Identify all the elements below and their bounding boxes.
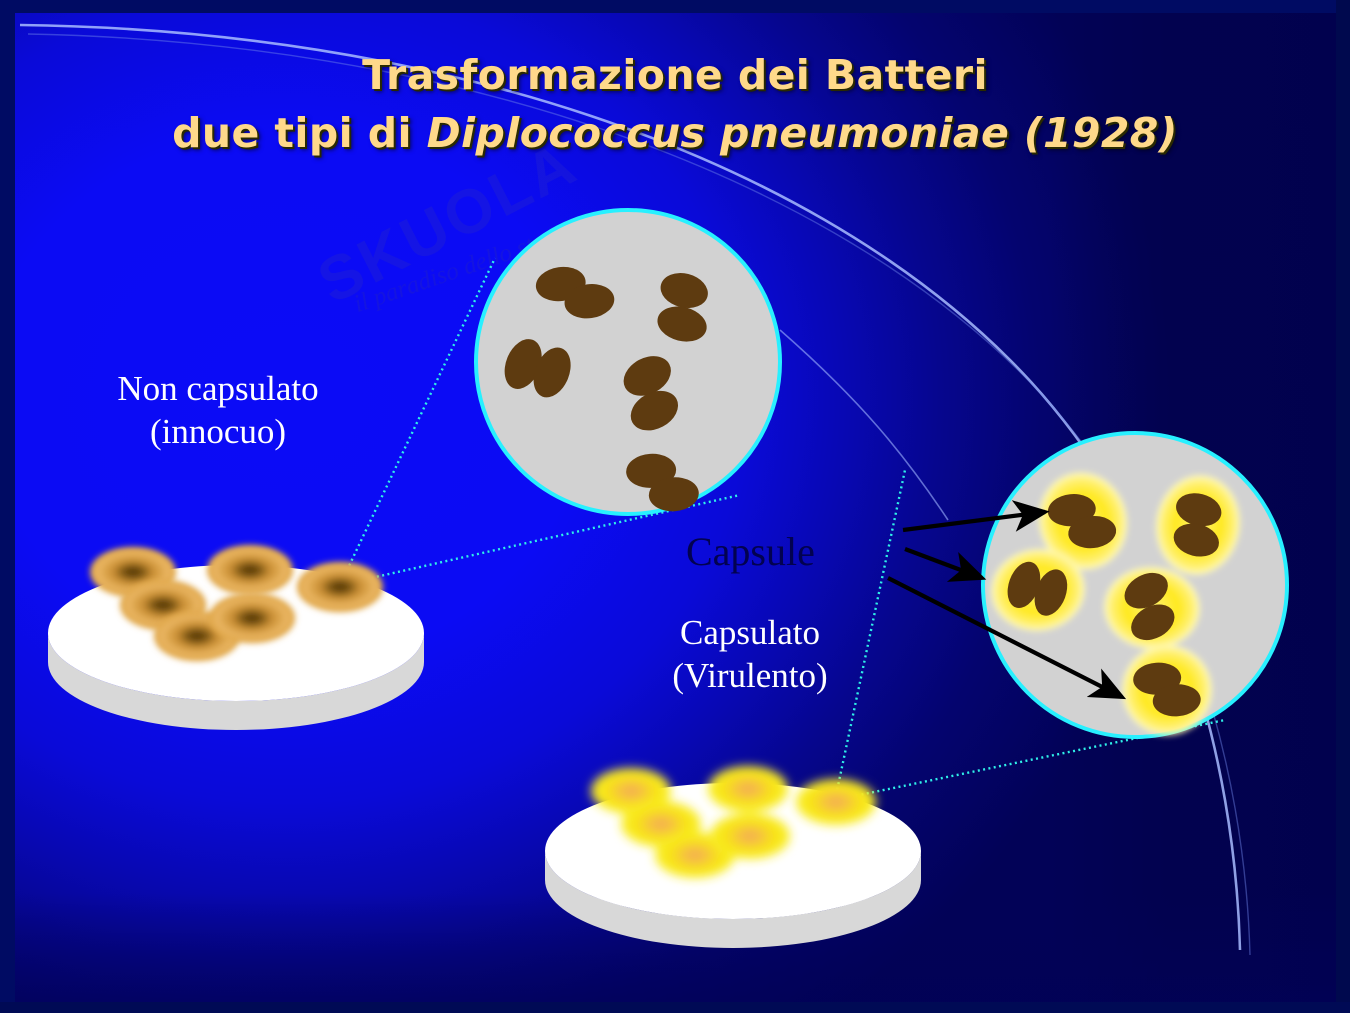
background-bottom-shade <box>0 893 1350 1013</box>
slide-border-bottom <box>0 1002 1350 1013</box>
title-line-1: Trasformazione dei Batteri <box>362 51 988 99</box>
title-line-2: due tipi di Diplococcus pneumoniae (1928… <box>0 104 1350 162</box>
slide-border-top <box>0 0 1350 13</box>
slide-title: Trasformazione dei Batteri due tipi di D… <box>0 46 1350 162</box>
label-non-capsulated: Non capsulato (innocuo) <box>28 368 408 453</box>
label-capsule: Capsule <box>686 528 906 577</box>
label-capsulated: Capsulato (Virulento) <box>560 612 940 697</box>
slide-canvas: SKUOLA il paradiso dello studente Trasfo… <box>0 0 1350 1013</box>
title-line-2-prefix: due tipi di <box>172 109 426 157</box>
title-species-name: Diplococcus pneumoniae (1928) <box>427 109 1178 157</box>
